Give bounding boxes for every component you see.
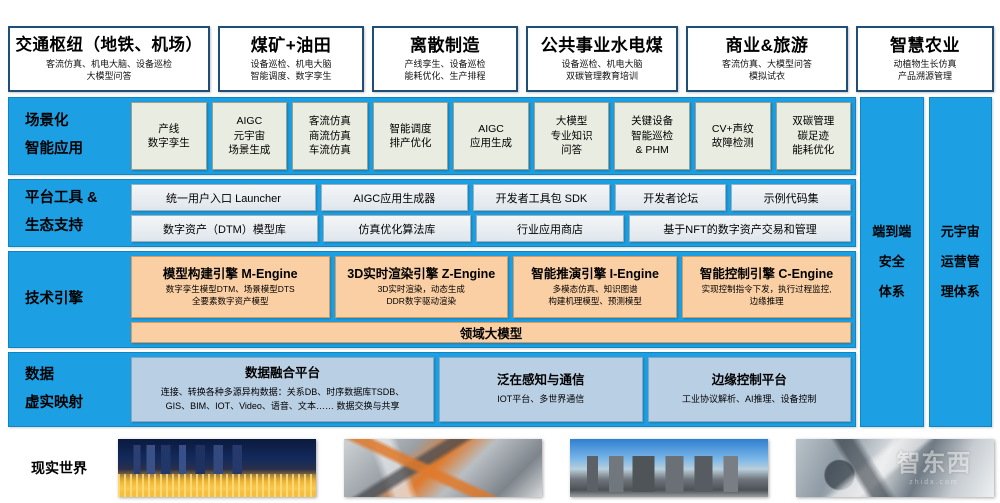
platform-tile[interactable]: 行业应用商店	[476, 215, 624, 242]
photo-chemical-plant	[570, 439, 768, 497]
scenario-tile-line: 排产优化	[389, 136, 431, 150]
industry-title: 公共事业水电煤	[541, 36, 664, 56]
scenario-tile-line: 数字孪生	[148, 136, 190, 150]
real-world-label: 现实世界	[0, 458, 118, 478]
industry-card-commerce-tourism[interactable]: 商业&旅游 客流仿真、大模型问答 模拟试衣	[686, 26, 848, 92]
scenario-tile-line: 大模型	[556, 114, 588, 128]
scenario-tile-line: 场景生成	[228, 143, 270, 157]
scenario-tile-line: & PHM	[636, 143, 669, 157]
industry-card-discrete-manufacturing[interactable]: 离散制造 产线孪生、设备巡检 能耗优化、生产排程	[372, 26, 518, 92]
engine-tile[interactable]: 智能控制引擎 C-Engine实现控制指令下发，执行过程监控,边缘推理	[682, 256, 851, 318]
industry-subtitle-line2: 模拟试衣	[722, 70, 812, 82]
engine-tile-subtitle: 实现控制指令下发，执行过程监控,边缘推理	[702, 284, 832, 308]
industry-subtitle-line1: 设备巡检、机电大脑	[561, 58, 642, 70]
scenario-tile-line: 能耗优化	[792, 143, 834, 157]
data-tile-subtitle: 工业协议解析、AI推理、设备控制	[682, 393, 817, 406]
watermark-text: 智东西	[897, 452, 972, 476]
data-tile-title: 泛在感知与通信	[497, 373, 585, 388]
industry-subtitle-line2: 能耗优化、生产排程	[404, 70, 485, 82]
watermark-subtext: zhidx.com	[909, 479, 959, 486]
layer-data-mapping: 数据 虚实映射 数据融合平台连接、转换各种多源异构数据：关系DB、时序数据库TS…	[8, 352, 856, 427]
engine-tile[interactable]: 3D实时渲染引擎 Z-Engine3D实时渲染，动态生成DDR数字驱动渲染	[335, 256, 509, 318]
scenario-tile-line: 智能调度	[389, 122, 431, 136]
platform-tile-row: 统一用户入口 LauncherAIGC应用生成器开发者工具包 SDK开发者论坛示…	[131, 184, 851, 211]
industry-subtitle: 产线孪生、设备巡检 能耗优化、生产排程	[404, 58, 485, 82]
layer-column: 场景化 智能应用 产线数字孪生AIGC元宇宙场景生成客流仿真商流仿真车流仿真智能…	[8, 97, 856, 427]
engine-tile-subtitle: 多模态仿真、知识图谱构建机理模型、预测模型	[548, 284, 642, 308]
scenario-tiles: 产线数字孪生AIGC元宇宙场景生成客流仿真商流仿真车流仿真智能调度排产优化AIG…	[131, 102, 851, 170]
engine-tile-title: 3D实时渲染引擎 Z-Engine	[347, 267, 495, 282]
layer-technology-engines: 技术引擎 模型构建引擎 M-Engine数字孪生模型DTM、场景模型DTS全要素…	[8, 251, 856, 348]
data-tile[interactable]: 泛在感知与通信IOT平台、多世界通信	[439, 357, 642, 422]
platform-tile[interactable]: 基于NFT的数字资产交易和管理	[629, 215, 851, 242]
scenario-tile-line: 元宇宙	[234, 129, 266, 143]
scenario-tile-line: 专业知识	[551, 129, 593, 143]
industry-subtitle-line1: 设备巡检、机电大脑	[250, 58, 331, 70]
engine-tile-title: 智能推演引擎 I-Engine	[531, 267, 659, 282]
data-tile-title: 数据融合平台	[245, 366, 320, 381]
pillar-end-to-end-security[interactable]: 端到端 安全 体系	[860, 97, 924, 427]
engine-tiles: 模型构建引擎 M-Engine数字孪生模型DTM、场景模型DTS全要素数字资产模…	[131, 256, 851, 343]
engine-tile-title: 智能控制引擎 C-Engine	[700, 267, 833, 282]
scenario-tile-line: 问答	[561, 143, 582, 157]
industry-subtitle: 设备巡检、机电大脑 智能调度、数字孪生	[250, 58, 331, 82]
engine-tile-subtitle-line1: 3D实时渲染，动态生成	[378, 284, 465, 296]
industry-subtitle: 客流仿真、机电大脑、设备巡检 大模型问答	[46, 58, 172, 82]
industry-title: 智慧农业	[890, 36, 960, 56]
pillar-line: 体系	[879, 277, 905, 307]
data-tile-subtitle-line1: 工业协议解析、AI推理、设备控制	[682, 393, 817, 406]
platform-tile-row: 数字资产（DTM）模型库仿真优化算法库行业应用商店基于NFT的数字资产交易和管理	[131, 215, 851, 242]
scenario-tile[interactable]: 产线数字孪生	[131, 102, 207, 170]
industry-card-coal-oil[interactable]: 煤矿+油田 设备巡检、机电大脑 智能调度、数字孪生	[218, 26, 364, 92]
industry-subtitle-line1: 客流仿真、机电大脑、设备巡检	[46, 58, 172, 70]
scenario-tile-line: 双碳管理	[792, 114, 834, 128]
pillar-line: 安全	[879, 247, 905, 277]
industry-subtitle-line1: 产线孪生、设备巡检	[404, 58, 485, 70]
platform-tile[interactable]: AIGC应用生成器	[321, 184, 468, 211]
industry-subtitle-line2: 大模型问答	[46, 70, 172, 82]
industry-subtitle-line1: 客流仿真、大模型问答	[722, 58, 812, 70]
layer-label-engine: 技术引擎	[13, 256, 131, 343]
real-world-strip: 现实世界 智东西 zhidx.com	[0, 432, 1000, 503]
data-tile-subtitle-line1: 连接、转换各种多源异构数据：关系DB、时序数据库TSDB、	[161, 386, 405, 399]
industry-card-smart-agriculture[interactable]: 智慧农业 动植物生长仿真 产品溯源管理	[856, 26, 994, 92]
layer-label-scenario: 场景化 智能应用	[13, 102, 131, 170]
side-pillars: 端到端 安全 体系 元宇宙 运营管 理体系	[860, 97, 992, 427]
layer-label-line2: 生态支持	[25, 213, 83, 241]
pillar-line: 理体系	[941, 277, 980, 307]
scenario-tile[interactable]: 智能调度排产优化	[373, 102, 449, 170]
watermark-logo: 智东西 zhidx.com	[878, 443, 990, 495]
scenario-tile[interactable]: 关键设备智能巡检& PHM	[614, 102, 690, 170]
industry-subtitle: 动植物生长仿真 产品溯源管理	[893, 58, 956, 82]
pillar-line: 运营管	[941, 247, 980, 277]
industry-subtitle-line2: 产品溯源管理	[893, 70, 956, 82]
engine-tile-subtitle-line2: 全要素数字资产模型	[166, 296, 295, 308]
engine-tile-subtitle-line2: DDR数字驱动渲染	[378, 296, 465, 308]
scenario-tile-line: AIGC	[478, 122, 504, 136]
scenario-tile[interactable]: 双碳管理碳足迹能耗优化	[776, 102, 852, 170]
scenario-tile-line: AIGC	[237, 114, 263, 128]
platform-tile[interactable]: 开发者论坛	[615, 184, 726, 211]
pillar-metaverse-operations[interactable]: 元宇宙 运营管 理体系	[929, 97, 993, 427]
photo-engineers-with-tablet: 智东西 zhidx.com	[796, 439, 994, 497]
data-tile-subtitle-line2: GIS、BIM、IOT、Video、语音、文本…… 数据交换与共享	[161, 400, 405, 413]
platform-tile[interactable]: 开发者工具包 SDK	[473, 184, 611, 211]
engine-tile-subtitle-line1: 多模态仿真、知识图谱	[548, 284, 642, 296]
industry-subtitle-line2: 智能调度、数字孪生	[250, 70, 331, 82]
scenario-tile-line: 客流仿真	[309, 114, 351, 128]
industry-subtitle-line2: 双碳管理教育培训	[561, 70, 642, 82]
industry-card-utilities[interactable]: 公共事业水电煤 设备巡检、机电大脑 双碳管理教育培训	[526, 26, 678, 92]
layer-label-line1: 技术引擎	[25, 286, 83, 314]
engine-tile-subtitle-line2: 构建机理模型、预测模型	[548, 296, 642, 308]
scenario-tile[interactable]: AIGC元宇宙场景生成	[212, 102, 288, 170]
layer-label-line1: 数据	[25, 362, 54, 390]
engine-tile-row: 模型构建引擎 M-Engine数字孪生模型DTM、场景模型DTS全要素数字资产模…	[131, 256, 851, 318]
layer-scenario-applications: 场景化 智能应用 产线数字孪生AIGC元宇宙场景生成客流仿真商流仿真车流仿真智能…	[8, 97, 856, 175]
scenario-tile-line: 故障检测	[712, 136, 754, 150]
platform-tile[interactable]: 仿真优化算法库	[323, 215, 471, 242]
scenario-tile[interactable]: 大模型专业知识问答	[534, 102, 610, 170]
data-tile-subtitle: IOT平台、多世界通信	[497, 393, 584, 406]
data-tile-subtitle-line1: IOT平台、多世界通信	[497, 393, 584, 406]
industry-subtitle: 客流仿真、大模型问答 模拟试衣	[722, 58, 812, 82]
platform-tile[interactable]: 示例代码集	[731, 184, 851, 211]
engine-tile-subtitle: 3D实时渲染，动态生成DDR数字驱动渲染	[378, 284, 465, 308]
industry-title: 离散制造	[410, 36, 480, 56]
layer-label-line1: 场景化	[25, 108, 69, 136]
layer-label-platform: 平台工具 & 生态支持	[13, 184, 131, 242]
scenario-tile-line: 商流仿真	[309, 129, 351, 143]
domain-large-model-band[interactable]: 领域大模型	[131, 322, 851, 343]
industry-row: 交通枢纽（地铁、机场） 客流仿真、机电大脑、设备巡检 大模型问答 煤矿+油田 设…	[8, 26, 992, 92]
scenario-tile-line: 智能巡检	[631, 129, 673, 143]
scenario-tile-line: 关键设备	[631, 114, 673, 128]
data-tile[interactable]: 边缘控制平台工业协议解析、AI推理、设备控制	[648, 357, 851, 422]
industry-title: 交通枢纽（地铁、机场）	[16, 36, 203, 55]
engine-tile-subtitle-line1: 数字孪生模型DTM、场景模型DTS	[166, 284, 295, 296]
data-tile-title: 边缘控制平台	[712, 373, 787, 388]
engine-tile[interactable]: 智能推演引擎 I-Engine多模态仿真、知识图谱构建机理模型、预测模型	[513, 256, 677, 318]
layer-label-line2: 智能应用	[25, 136, 83, 164]
platform-tile[interactable]: 统一用户入口 Launcher	[131, 184, 316, 211]
engine-tile-subtitle: 数字孪生模型DTM、场景模型DTS全要素数字资产模型	[166, 284, 295, 308]
data-tiles: 数据融合平台连接、转换各种多源异构数据：关系DB、时序数据库TSDB、GIS、B…	[131, 357, 851, 422]
engine-tile-subtitle-line2: 边缘推理	[702, 296, 832, 308]
industry-card-transport-hub[interactable]: 交通枢纽（地铁、机场） 客流仿真、机电大脑、设备巡检 大模型问答	[8, 26, 210, 92]
pillar-line: 元宇宙	[941, 217, 980, 247]
platform-tile[interactable]: 数字资产（DTM）模型库	[131, 215, 318, 242]
engine-tile[interactable]: 模型构建引擎 M-Engine数字孪生模型DTM、场景模型DTS全要素数字资产模…	[131, 256, 330, 318]
scenario-tile-line: 应用生成	[470, 136, 512, 150]
engine-tile-subtitle-line1: 实现控制指令下发，执行过程监控,	[702, 284, 832, 296]
layer-label-line2: 虚实映射	[25, 390, 83, 418]
scenario-tile-line: 产线	[158, 122, 179, 136]
industry-title: 煤矿+油田	[251, 36, 331, 56]
layer-label-line1: 平台工具 &	[25, 185, 98, 213]
photo-robotic-assembly-line	[344, 439, 542, 497]
layer-label-data: 数据 虚实映射	[13, 357, 131, 422]
scenario-tile[interactable]: AIGC应用生成	[453, 102, 529, 170]
scenario-tile[interactable]: 客流仿真商流仿真车流仿真	[292, 102, 368, 170]
data-tile[interactable]: 数据融合平台连接、转换各种多源异构数据：关系DB、时序数据库TSDB、GIS、B…	[131, 357, 434, 422]
pillar-line: 端到端	[872, 217, 911, 247]
scenario-tile-line: 车流仿真	[309, 143, 351, 157]
scenario-tile-line: 碳足迹	[798, 129, 830, 143]
architecture-stack: 场景化 智能应用 产线数字孪生AIGC元宇宙场景生成客流仿真商流仿真车流仿真智能…	[8, 97, 992, 427]
engine-tile-title: 模型构建引擎 M-Engine	[163, 267, 298, 282]
industry-title: 商业&旅游	[726, 36, 809, 56]
scenario-tile[interactable]: CV+声纹故障检测	[695, 102, 771, 170]
data-tile-subtitle: 连接、转换各种多源异构数据：关系DB、时序数据库TSDB、GIS、BIM、IOT…	[161, 386, 405, 412]
industry-subtitle-line1: 动植物生长仿真	[893, 58, 956, 70]
photo-night-city-skyline	[118, 439, 316, 497]
scenario-tile-line: CV+声纹	[712, 122, 754, 136]
platform-tiles: 统一用户入口 LauncherAIGC应用生成器开发者工具包 SDK开发者论坛示…	[131, 184, 851, 242]
photo-row: 智东西 zhidx.com	[118, 439, 1000, 497]
layer-platform-tools: 平台工具 & 生态支持 统一用户入口 LauncherAIGC应用生成器开发者工…	[8, 179, 856, 247]
industry-subtitle: 设备巡检、机电大脑 双碳管理教育培训	[561, 58, 642, 82]
